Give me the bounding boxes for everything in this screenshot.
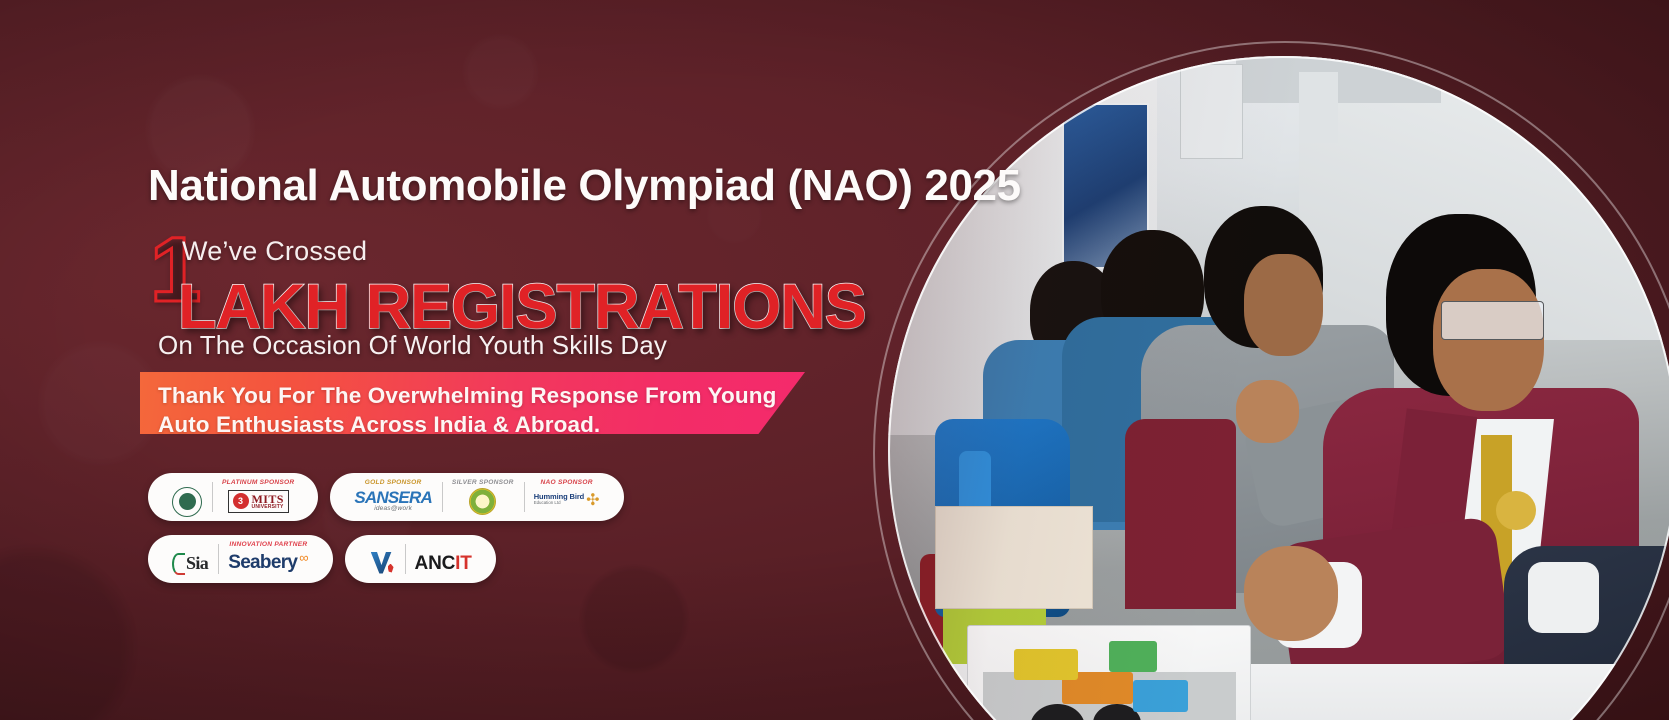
mits-emblem: 3	[233, 493, 249, 509]
occasion-subtitle: On The Occasion Of World Youth Skills Da…	[158, 330, 667, 361]
sponsor-cell: Sia	[162, 535, 218, 583]
mits-university-icon: 3 MITS UNIVERSITY	[228, 487, 289, 515]
sponsor-row-2: Sia INNOVATION PARTNER Seabery ∞	[148, 535, 496, 583]
ancit-title-a: ANC	[415, 553, 456, 574]
humming-bird-icon: Humming Bird Education Ltd ✣	[534, 487, 600, 515]
infinity-icon: ∞	[299, 552, 308, 564]
nao-sponsor-caption: NAO SPONSOR	[541, 479, 593, 486]
seabery-title: Seabery	[228, 552, 297, 574]
silver-sponsor-caption: SILVER SPONSOR	[452, 479, 514, 486]
thanks-message: Thank You For The Overwhelming Response …	[158, 382, 778, 440]
sponsor-cell: INNOVATION PARTNER Seabery ∞	[218, 535, 318, 583]
gold-silver-nao-sponsor-badge[interactable]: GOLD SPONSOR SANSERA ideas@work SILVER S…	[330, 473, 623, 521]
seabery-icon: Seabery ∞	[228, 549, 308, 577]
banner-title: National Automobile Olympiad (NAO) 2025	[148, 161, 1021, 211]
sansera-title: SANSERA	[354, 489, 432, 506]
sponsor-cell: GOLD SPONSOR SANSERA ideas@work	[344, 473, 442, 521]
platinum-sponsor-badge[interactable]: PLATINUM SPONSOR 3 MITS UNIVERSITY	[148, 473, 318, 521]
mits-subtitle: UNIVERSITY	[252, 505, 284, 510]
sponsor-cell: PLATINUM SPONSOR 3 MITS UNIVERSITY	[212, 473, 304, 521]
v-mark-icon	[369, 550, 395, 578]
sponsor-cell	[162, 473, 212, 521]
sponsor-cell: SILVER SPONSOR	[442, 473, 524, 521]
sponsor-row-1: PLATINUM SPONSOR 3 MITS UNIVERSITY	[148, 473, 624, 521]
innovation-partner-caption: INNOVATION PARTNER	[229, 541, 307, 548]
kiit-emblem-icon	[172, 488, 202, 516]
silver-sponsor-emblem-icon	[469, 487, 496, 515]
hero-photo-image	[888, 56, 1669, 720]
ancit-title-b: IT	[455, 553, 472, 574]
sponsor-cell: NAO SPONSOR Humming Bird Education Ltd ✣	[524, 473, 610, 521]
platinum-sponsor-caption: PLATINUM SPONSOR	[222, 479, 294, 486]
sponsor-cell	[359, 535, 405, 583]
sponsor-cell: ANCIT	[405, 535, 482, 583]
sansera-icon: SANSERA ideas@work	[354, 487, 432, 515]
ancit-icon: ANCIT	[415, 550, 472, 578]
hero-photo	[888, 56, 1669, 720]
promo-banner: National Automobile Olympiad (NAO) 2025 …	[0, 0, 1669, 720]
innovation-partner-badge[interactable]: Sia INNOVATION PARTNER Seabery ∞	[148, 535, 333, 583]
bird-icon: ✣	[586, 493, 599, 509]
sia-icon: Sia	[172, 550, 208, 578]
banner-content: National Automobile Olympiad (NAO) 2025 …	[0, 0, 900, 720]
gold-sponsor-caption: GOLD SPONSOR	[365, 479, 422, 486]
sia-title: Sia	[186, 553, 208, 574]
mits-title: MITS	[252, 493, 284, 505]
ancit-partner-badge[interactable]: ANCIT	[345, 535, 496, 583]
weve-crossed-label: We’ve Crossed	[182, 236, 367, 267]
sansera-subtitle: ideas@work	[354, 506, 432, 513]
